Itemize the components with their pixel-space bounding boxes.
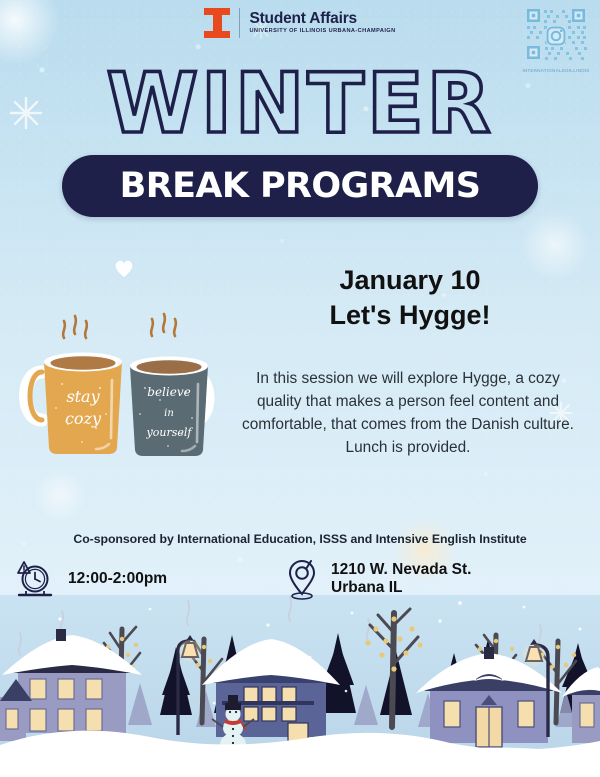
mug-right-line2: in xyxy=(164,408,174,419)
brand-subtitle: UNIVERSITY OF ILLINOIS URBANA-CHAMPAIGN xyxy=(249,29,395,35)
qr-code-instagram-icon[interactable] xyxy=(523,6,589,66)
event-details-row: 12:00-2:00pm 1210 W. Nevada St. Urbana I… xyxy=(0,558,600,600)
subtitle-text: BREAK PROGRAMS xyxy=(120,166,481,206)
steam-icon xyxy=(63,316,87,338)
address-line-2: Urbana IL xyxy=(331,579,471,597)
event-description: In this session we will explore Hygge, a… xyxy=(232,367,584,459)
qr-code-block[interactable]: INTERNATIONALEDILLINOIS xyxy=(520,6,592,73)
heart-icon xyxy=(113,258,135,278)
event-date: January 10 xyxy=(240,263,580,298)
header-divider xyxy=(239,8,240,38)
address-line-1: 1210 W. Nevada St. xyxy=(331,561,471,579)
clock-icon xyxy=(14,558,56,600)
poster-canvas: Student Affairs UNIVERSITY OF ILLINOIS U… xyxy=(0,0,600,777)
event-heading: January 10 Let's Hygge! xyxy=(240,263,580,332)
subtitle-banner: BREAK PROGRAMS xyxy=(62,155,538,217)
mug-left-line1: stay xyxy=(66,387,100,406)
brand-title: Student Affairs xyxy=(249,11,395,27)
mug-right-line1: believe xyxy=(147,385,190,399)
light-glow xyxy=(30,470,90,520)
mug-left-line2: cozy xyxy=(65,409,102,428)
time-detail: 12:00-2:00pm xyxy=(14,558,284,600)
qr-caption: INTERNATIONALEDILLINOIS xyxy=(520,68,592,73)
map-pin-icon xyxy=(284,558,320,600)
steam-icon xyxy=(151,314,176,336)
event-time: 12:00-2:00pm xyxy=(68,570,167,588)
event-name: Let's Hygge! xyxy=(240,298,580,333)
two-mugs-illustration: stay cozy believe in yourself xyxy=(12,296,222,476)
location-detail: 1210 W. Nevada St. Urbana IL xyxy=(284,558,471,600)
winter-village-illustration xyxy=(0,595,600,777)
cosponsor-text: Co-sponsored by International Education,… xyxy=(0,532,600,546)
page-title: WINTER xyxy=(0,62,600,145)
mug-right-line3: yourself xyxy=(146,426,194,439)
brand-header: Student Affairs UNIVERSITY OF ILLINOIS U… xyxy=(0,8,600,38)
illinois-block-i-icon xyxy=(204,8,230,38)
